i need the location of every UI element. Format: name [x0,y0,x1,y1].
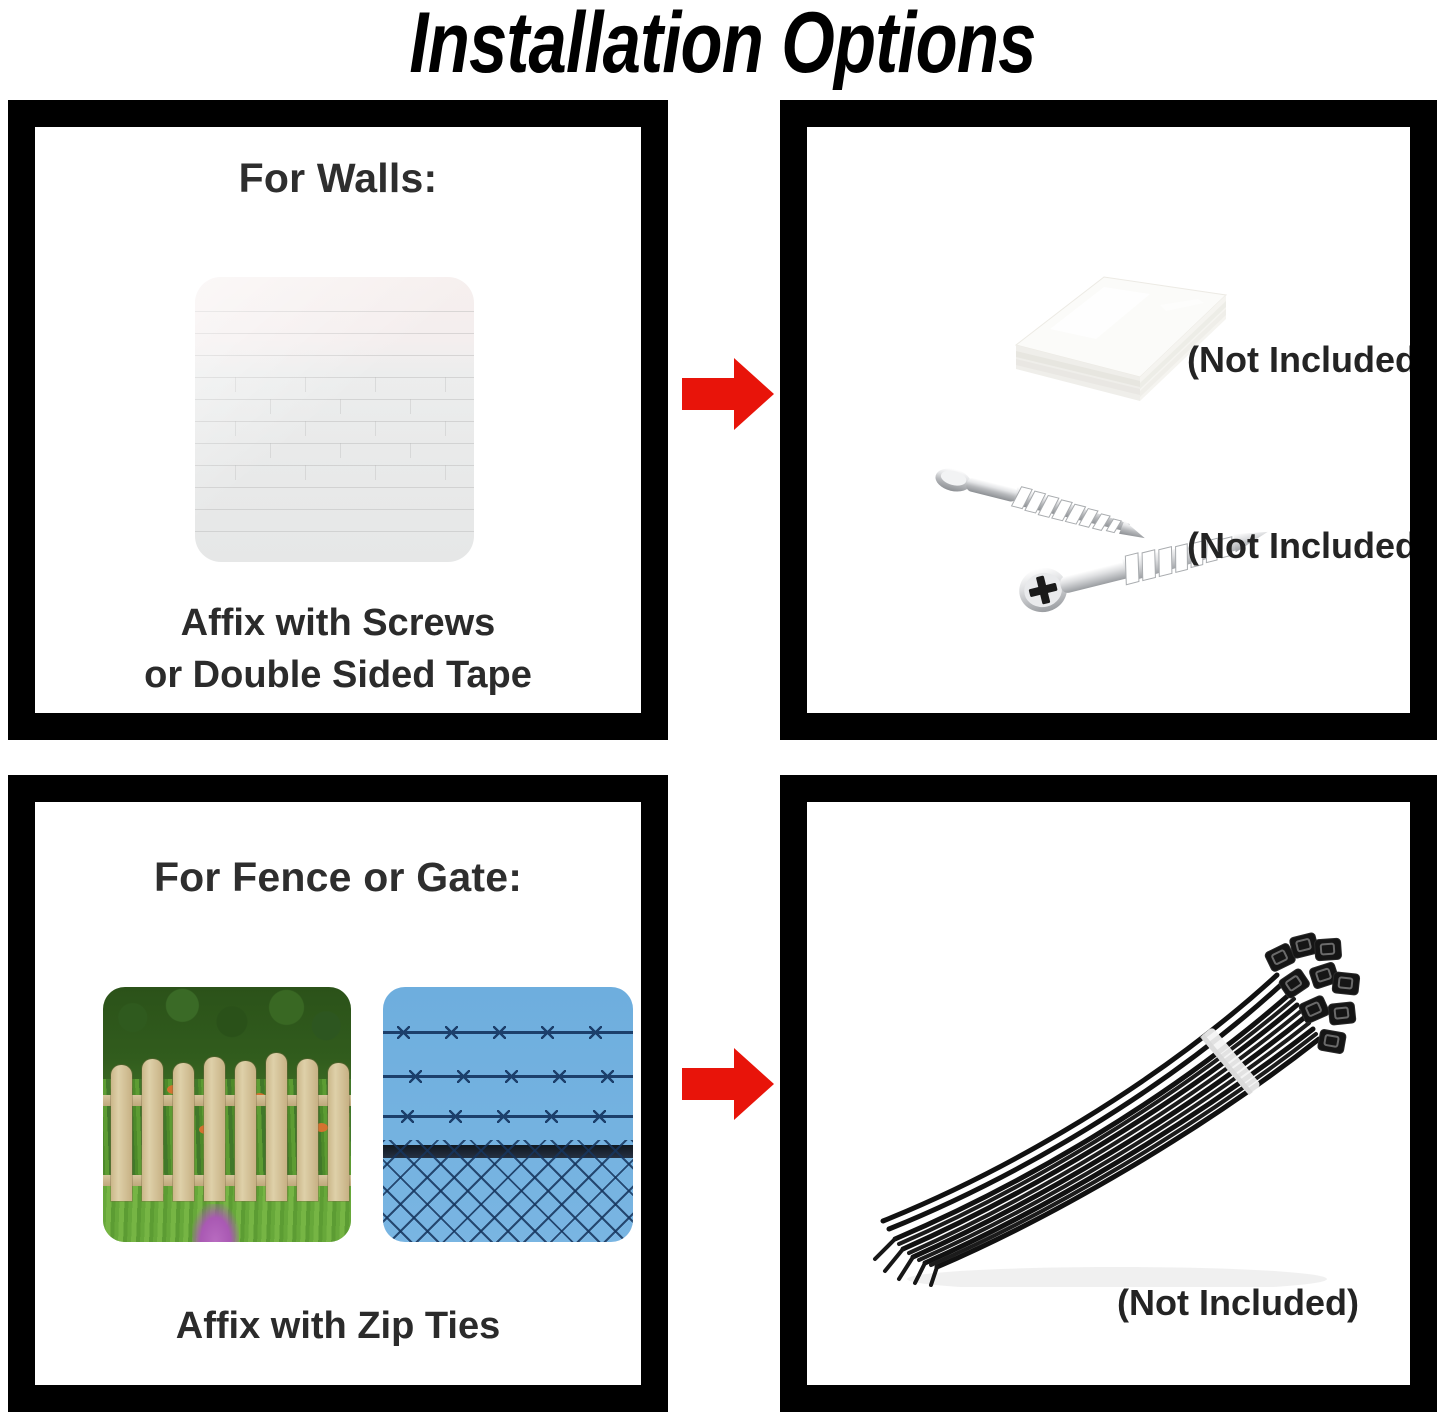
zipties-not-included-label: (Not Included) [1117,1282,1359,1324]
chain-link-barbed-wire-fence-photo [383,987,633,1242]
red-right-arrow-icon [680,1042,776,1126]
walls-caption-line1: Affix with Screws [35,597,641,649]
wooden-picket-fence-photo [103,987,351,1242]
panel-zip-ties: (Not Included) [780,775,1437,1412]
page-title: Installation Options [145,0,1301,93]
walls-heading: For Walls: [35,155,641,202]
red-right-arrow-icon [680,352,776,436]
walls-caption-line2: or Double Sided Tape [35,649,641,701]
screws-not-included-label: (Not Included) [1187,525,1410,567]
panel-hardware: (Not Included) [780,100,1437,740]
walls-caption: Affix with Screws or Double Sided Tape [35,597,641,701]
black-zip-tie-bundle [867,887,1367,1287]
panel-for-fence-or-gate: For Fence or Gate: [8,775,668,1412]
tape-not-included-label: (Not Included) [1187,339,1410,381]
panel-for-walls: For Walls: [8,100,668,740]
fence-caption: Affix with Zip Ties [35,1300,641,1352]
fence-heading: For Fence or Gate: [35,854,641,901]
white-brick-wall-swatch [195,277,474,562]
